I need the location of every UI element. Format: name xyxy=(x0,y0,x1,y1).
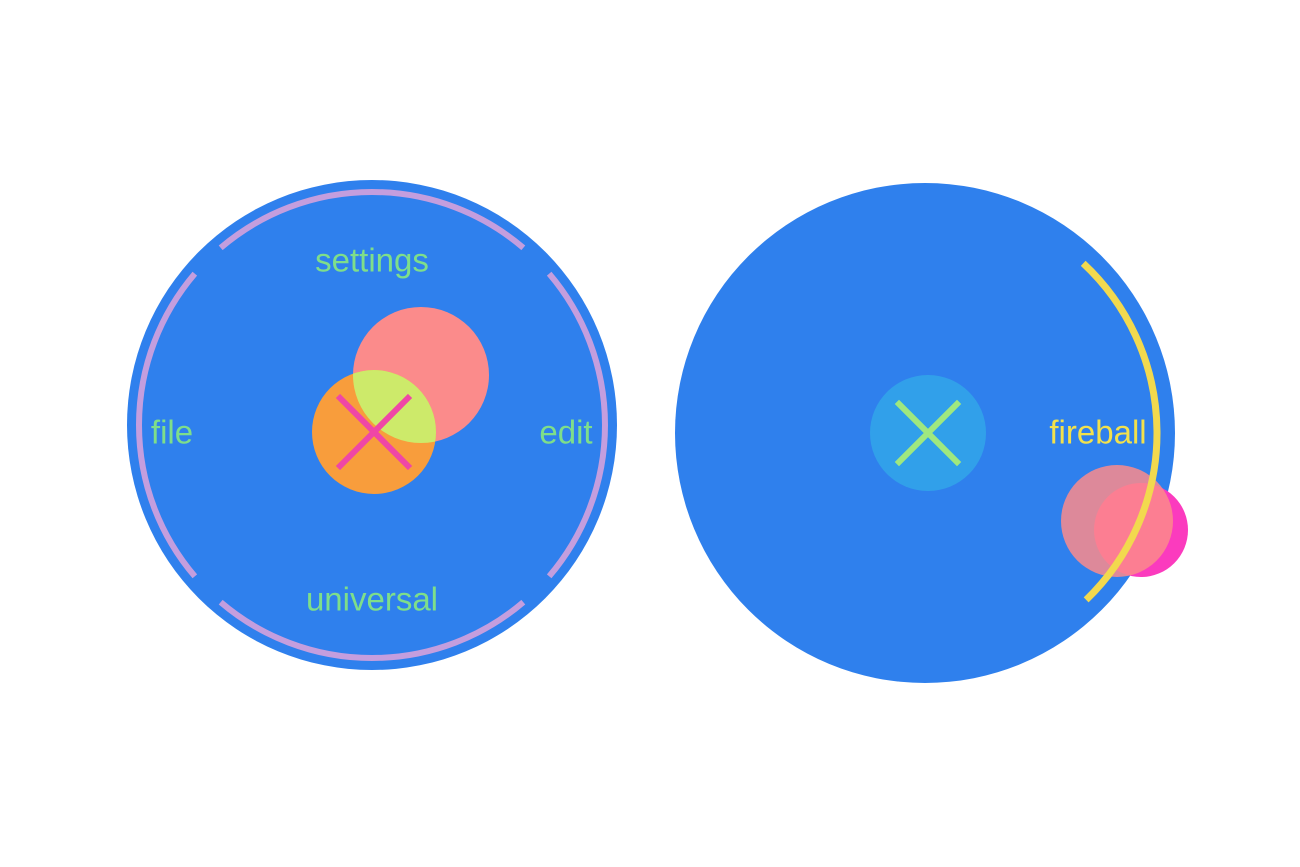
label-universal[interactable]: universal xyxy=(306,581,438,618)
label-fireball[interactable]: fireball xyxy=(1049,414,1146,451)
canvas-stage: settings file edit universal fireball xyxy=(0,0,1300,867)
label-edit[interactable]: edit xyxy=(539,414,592,451)
label-settings[interactable]: settings xyxy=(315,242,429,279)
left-dial-group[interactable]: settings file edit universal xyxy=(127,180,617,670)
shapes-canvas: settings file edit universal fireball xyxy=(0,0,1300,867)
right-dial-group[interactable]: fireball xyxy=(675,183,1188,683)
label-file[interactable]: file xyxy=(151,414,193,451)
